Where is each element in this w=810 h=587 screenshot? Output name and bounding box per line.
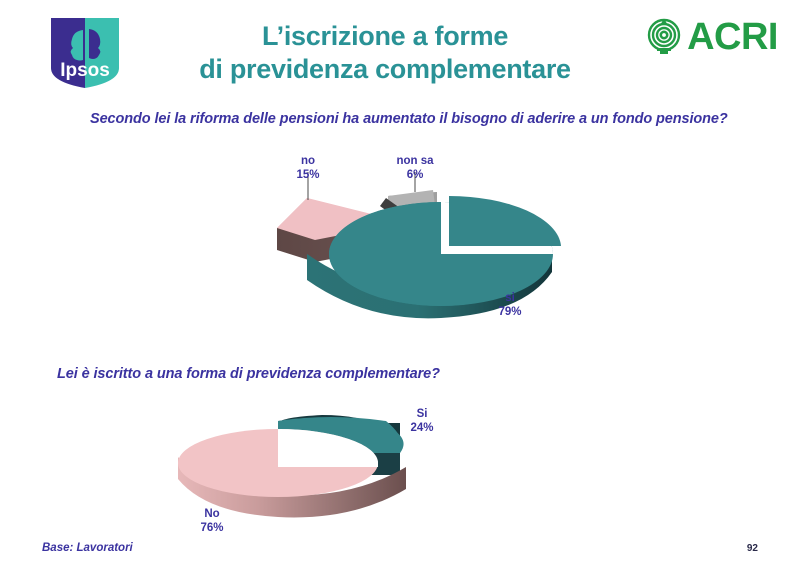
- pie1-label-no-value: 15%: [296, 169, 319, 181]
- page-number: 92: [747, 543, 758, 554]
- pie2-label-no-value: 76%: [200, 522, 223, 534]
- pie-chart-1: no 15% non sa 6% si 79%: [255, 150, 585, 330]
- acri-logo: ACRI: [644, 14, 778, 60]
- ipsos-logo: Ipsos: [49, 16, 121, 90]
- slide: Ipsos L’iscrizione a forme di previdenza…: [0, 0, 810, 587]
- question-1: Secondo lei la riforma delle pensioni ha…: [90, 111, 728, 127]
- pie2-label-si-name: Si: [417, 408, 428, 420]
- pie1-label-no-name: no: [301, 155, 315, 167]
- page-title-line2: di previdenza complementare: [160, 53, 610, 86]
- pie1-label-non-sa-value: 6%: [407, 169, 424, 181]
- page-title-line1: L’iscrizione a forme: [160, 20, 610, 53]
- ipsos-shield-icon: Ipsos: [49, 16, 121, 90]
- pie1-label-si-name: si: [505, 292, 515, 304]
- question-2: Lei è iscritto a una forma di previdenza…: [57, 366, 440, 382]
- page-title: L’iscrizione a forme di previdenza compl…: [160, 20, 610, 86]
- pie1-label-non-sa-name: non sa: [396, 155, 434, 167]
- footer-base-text: Base: Lavoratori: [42, 542, 133, 554]
- pie-chart-2-svg: Si 24% No 76%: [160, 395, 490, 545]
- pie-chart-1-svg: no 15% non sa 6% si 79%: [255, 150, 585, 330]
- pie2-label-no-name: No: [204, 508, 219, 520]
- pie2-label-si-value: 24%: [410, 422, 433, 434]
- pie-chart-2: Si 24% No 76%: [160, 395, 490, 545]
- acri-spiral-icon: [644, 17, 684, 57]
- pie1-label-si-value: 79%: [498, 306, 521, 318]
- acri-logo-text: ACRI: [687, 18, 778, 56]
- ipsos-logo-text: Ipsos: [60, 60, 110, 81]
